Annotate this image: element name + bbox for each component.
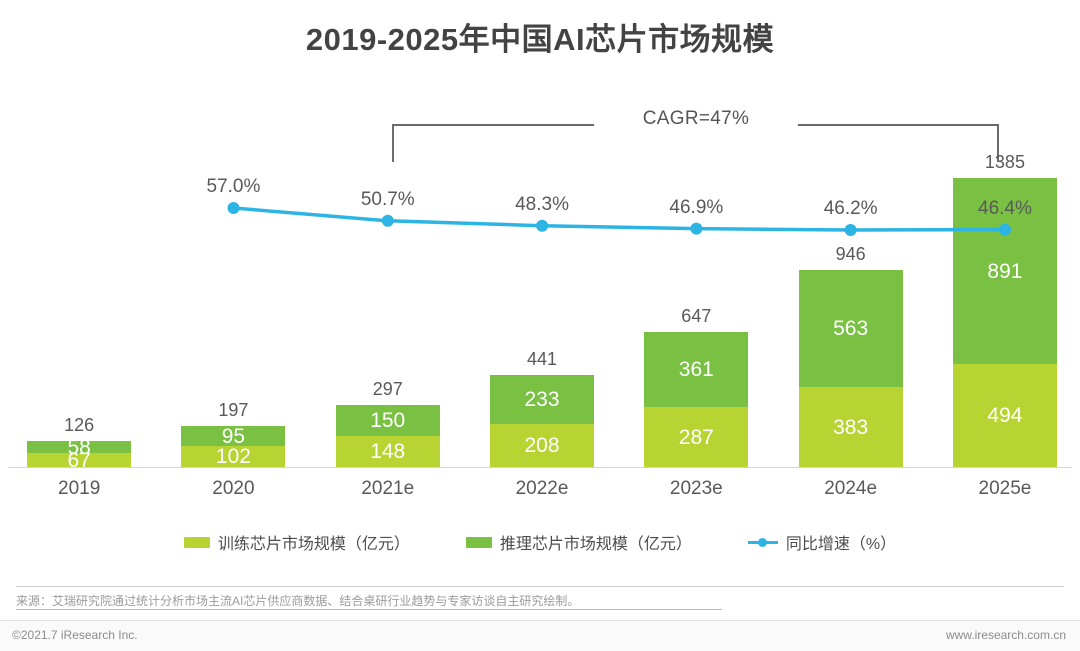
bar-segment-training[interactable]: 208 [490,424,594,467]
stacked-bar[interactable]: 361287 [644,332,748,467]
source-note: 来源：艾瑞研究院通过统计分析市场主流AI芯片供应商数据、结合桌研行业趋势与专家访… [16,592,1056,609]
line-value-label: 46.2% [824,198,878,220]
line-value-label: 48.3% [515,194,569,216]
bar-column-2023e[interactable]: 3612876472023e [619,0,773,575]
bar-total-label: 647 [681,306,711,327]
x-axis-label-2025e: 2025e [928,478,1080,500]
x-axis-label-2024e: 2024e [774,478,928,500]
bar-segment-training[interactable]: 148 [336,436,440,467]
legend-item-1[interactable]: 推理芯片市场规模（亿元） [466,530,692,554]
source-underline [16,609,722,610]
legend-line-marker-icon [748,537,778,548]
legend-swatch-icon [184,537,210,548]
bar-total-label: 1385 [985,152,1025,173]
chart-plot-area: CAGR=47% 5867126201995102197202015014829… [0,0,1080,575]
bar-segment-training[interactable]: 287 [644,407,748,467]
legend-label: 同比增速（%） [786,530,896,554]
website-link[interactable]: www.iresearch.com.cn [946,628,1066,642]
bar-column-2022e[interactable]: 2332084412022e [465,0,619,575]
bar-segment-training[interactable]: 494 [953,364,1057,467]
bar-column-2024e[interactable]: 5633839462024e [774,0,928,575]
stacked-bar[interactable]: 150148 [336,405,440,467]
bar-segment-training[interactable]: 383 [799,387,903,467]
bar-segment-inference[interactable]: 563 [799,270,903,387]
bar-total-label: 197 [218,400,248,421]
stacked-bar[interactable]: 891494 [953,178,1057,467]
bar-total-label: 126 [64,415,94,436]
line-value-label: 46.4% [978,198,1032,220]
bar-segment-training[interactable]: 102 [181,446,285,467]
bar-segment-training[interactable]: 67 [27,453,131,467]
bar-column-2021e[interactable]: 1501482972021e [311,0,465,575]
bar-total-label: 441 [527,349,557,370]
stacked-bar[interactable]: 5867 [27,441,131,467]
bar-segment-inference[interactable]: 233 [490,375,594,424]
x-axis-line [8,467,1072,468]
bar-column-2020[interactable]: 951021972020 [156,0,310,575]
copyright-text: ©2021.7 iResearch Inc. [12,628,138,642]
x-axis-label-2020: 2020 [156,478,310,500]
legend-label: 推理芯片市场规模（亿元） [500,530,692,554]
x-axis-label-2019: 2019 [2,478,156,500]
chart-legend: 训练芯片市场规模（亿元）推理芯片市场规模（亿元）同比增速（%） [0,530,1080,554]
footer-bar [0,620,1080,651]
bar-total-label: 297 [373,379,403,400]
x-axis-label-2022e: 2022e [465,478,619,500]
bar-column-2019[interactable]: 58671262019 [2,0,156,575]
legend-item-0[interactable]: 训练芯片市场规模（亿元） [184,530,410,554]
bar-segment-inference[interactable]: 95 [181,426,285,446]
stacked-bar[interactable]: 233208 [490,375,594,467]
legend-swatch-icon [466,537,492,548]
x-axis-label-2023e: 2023e [619,478,773,500]
bar-column-2025e[interactable]: 89149413852025e [928,0,1080,575]
stacked-bar[interactable]: 563383 [799,270,903,467]
line-value-label: 57.0% [207,176,261,198]
x-axis-label-2021e: 2021e [311,478,465,500]
chart-page: 2019-2025年中国AI芯片市场规模 CAGR=47% 5867126201… [0,0,1080,651]
legend-item-2[interactable]: 同比增速（%） [748,530,896,554]
bar-total-label: 946 [836,244,866,265]
source-divider [16,586,1064,587]
line-value-label: 46.9% [669,197,723,219]
bar-segment-inference[interactable]: 361 [644,332,748,407]
legend-label: 训练芯片市场规模（亿元） [218,530,410,554]
line-value-label: 50.7% [361,189,415,211]
stacked-bar[interactable]: 95102 [181,426,285,467]
bar-segment-inference[interactable]: 150 [336,405,440,436]
